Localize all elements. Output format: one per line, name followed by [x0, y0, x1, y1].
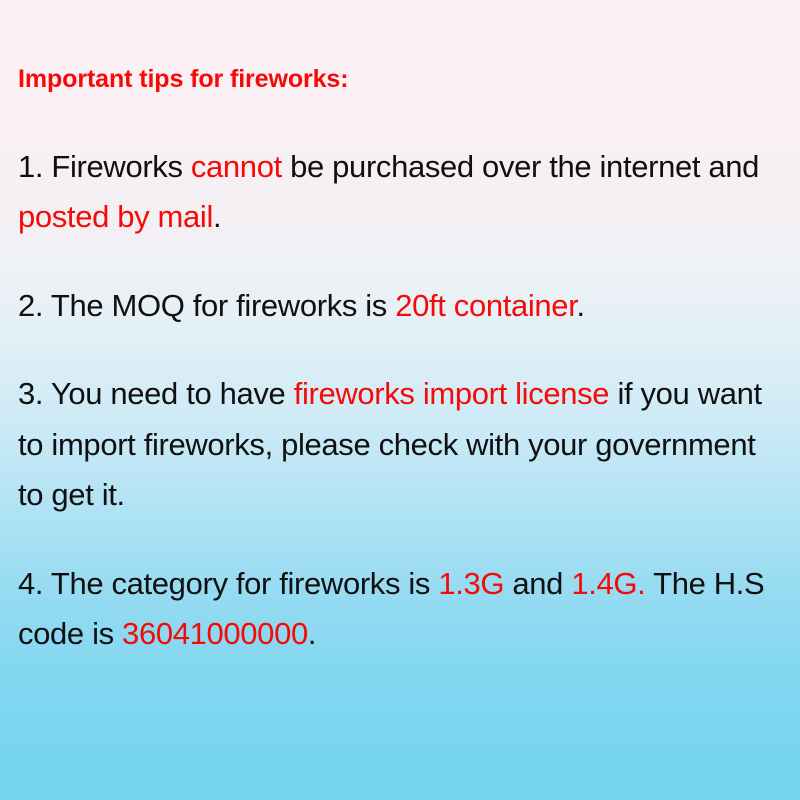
tips-list: 1. Fireworks cannot be purchased over th…: [18, 142, 782, 660]
tip-item: 3. You need to have fireworks import lic…: [18, 369, 782, 521]
tip-highlight-text: 1.3G: [438, 566, 504, 601]
tip-item: 1. Fireworks cannot be purchased over th…: [18, 142, 782, 243]
tip-text: The MOQ for fireworks is: [43, 288, 395, 323]
tip-text: Fireworks: [43, 149, 191, 184]
tip-number: 3.: [18, 376, 43, 411]
tip-highlight-text: posted by mail: [18, 199, 213, 234]
page-title: Important tips for fireworks:: [18, 66, 782, 94]
tip-number: 1.: [18, 149, 43, 184]
tip-number: 2.: [18, 288, 43, 323]
fireworks-tips-poster: Important tips for fireworks: 1. Firewor…: [0, 0, 800, 800]
tip-number: 4.: [18, 566, 43, 601]
tip-highlight-text: fireworks import license: [294, 376, 609, 411]
tip-text: .: [576, 288, 584, 323]
tip-highlight-text: 20ft container: [395, 288, 576, 323]
tip-item: 4. The category for fireworks is 1.3G an…: [18, 559, 782, 660]
tip-highlight-text: cannot: [191, 149, 282, 184]
tip-text: .: [308, 616, 316, 651]
tip-item: 2. The MOQ for fireworks is 20ft contain…: [18, 281, 782, 332]
tip-highlight-text: 36041000000: [122, 616, 308, 651]
tip-text: The category for fireworks is: [43, 566, 438, 601]
tip-text: be purchased over the internet and: [282, 149, 759, 184]
tip-text: .: [213, 199, 221, 234]
tip-text: and: [504, 566, 571, 601]
tip-highlight-text: 1.4G.: [571, 566, 645, 601]
tip-text: You need to have: [43, 376, 294, 411]
